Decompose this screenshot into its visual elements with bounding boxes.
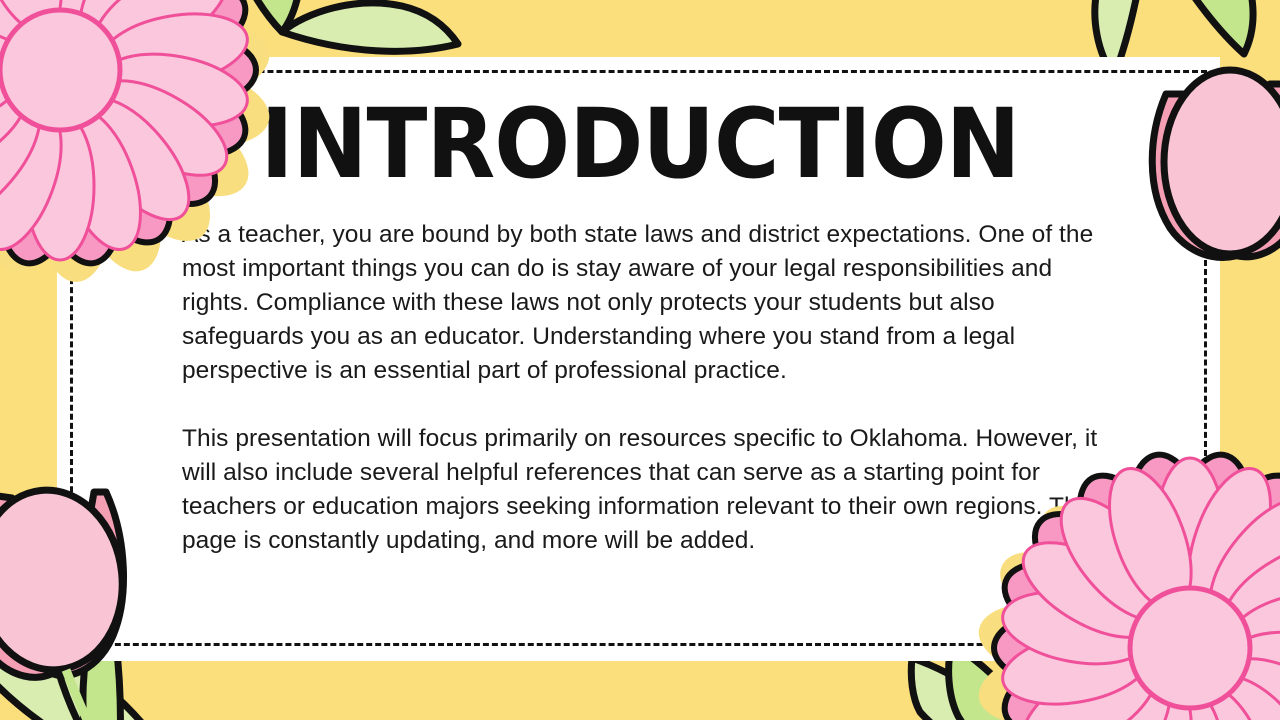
- slide-canvas: INTRODUCTION As a teacher, you are bound…: [0, 0, 1280, 720]
- paragraph-spacer: [182, 388, 1100, 422]
- paragraph-2: This presentation will focus primarily o…: [182, 422, 1100, 558]
- body-text-block: As a teacher, you are bound by both stat…: [182, 218, 1100, 558]
- page-title: INTRODUCTION: [156, 96, 1123, 192]
- paragraph-1: As a teacher, you are bound by both stat…: [182, 218, 1100, 388]
- slide-content: INTRODUCTION As a teacher, you are bound…: [120, 96, 1160, 558]
